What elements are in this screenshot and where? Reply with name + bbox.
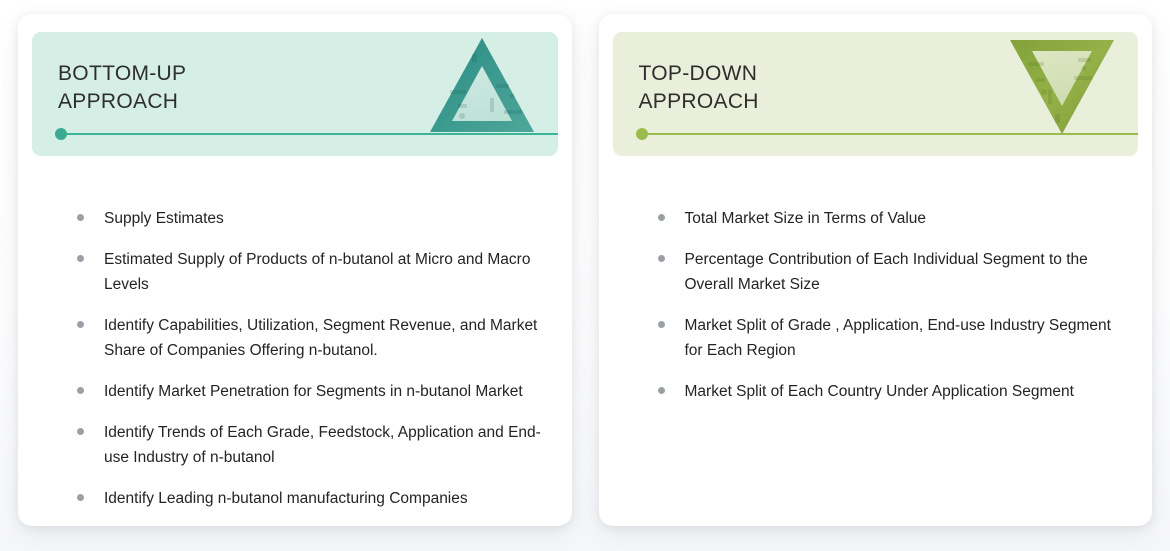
bullet-dot-icon — [658, 214, 665, 221]
list-item-label: Supply Estimates — [104, 206, 224, 231]
bullet-dot-icon — [77, 494, 84, 501]
list-item: Identify Capabilities, Utilization, Segm… — [40, 313, 550, 363]
triangle-down-icon — [1008, 32, 1116, 140]
list-item-label: Market Split of Grade , Application, End… — [685, 313, 1131, 363]
card-header-bottom-up: BOTTOM-UP APPROACH — [32, 32, 558, 156]
list-item-label: Identify Capabilities, Utilization, Segm… — [104, 313, 550, 363]
card-bottom-up: BOTTOM-UP APPROACH — [18, 14, 572, 526]
list-item: Identify Leading n-butanol manufacturing… — [40, 486, 550, 511]
list-item-label: Percentage Contribution of Each Individu… — [685, 247, 1131, 297]
list-item: Identify Market Penetration for Segments… — [40, 379, 550, 404]
bullet-dot-icon — [658, 255, 665, 262]
list-item-label: Total Market Size in Terms of Value — [685, 206, 927, 231]
list-item-label: Market Split of Each Country Under Appli… — [685, 379, 1074, 404]
list-item: Total Market Size in Terms of Value — [621, 206, 1131, 231]
bullet-dot-icon — [77, 214, 84, 221]
bullet-dot-icon — [658, 387, 665, 394]
list-item: Identify Trends of Each Grade, Feedstock… — [40, 420, 550, 470]
list-item: Supply Estimates — [40, 206, 550, 231]
card-title-bottom-up: BOTTOM-UP APPROACH — [58, 60, 186, 116]
card-title-top-down: TOP-DOWN APPROACH — [639, 60, 759, 116]
triangle-up-icon — [428, 32, 536, 140]
bullet-dot-icon — [658, 321, 665, 328]
bullet-dot-icon — [77, 387, 84, 394]
bullet-dot-icon — [77, 321, 84, 328]
card-header-top-down: TOP-DOWN APPROACH — [613, 32, 1139, 156]
list-item-label: Identify Leading n-butanol manufacturing… — [104, 486, 468, 511]
bullet-list-bottom-up: Supply Estimates Estimated Supply of Pro… — [18, 174, 572, 526]
list-item: Market Split of Grade , Application, End… — [621, 313, 1131, 363]
list-item-label: Identify Trends of Each Grade, Feedstock… — [104, 420, 550, 470]
card-top-down: TOP-DOWN APPROACH — [599, 14, 1153, 526]
slide-background: BOTTOM-UP APPROACH — [0, 0, 1170, 551]
list-item: Market Split of Each Country Under Appli… — [621, 379, 1131, 404]
bullet-dot-icon — [77, 255, 84, 262]
list-item: Estimated Supply of Products of n-butano… — [40, 247, 550, 297]
accent-dot-top-down — [636, 128, 648, 140]
approach-cards-container: BOTTOM-UP APPROACH — [18, 14, 1152, 526]
bullet-dot-icon — [77, 428, 84, 435]
list-item-label: Identify Market Penetration for Segments… — [104, 379, 523, 404]
accent-dot-bottom-up — [55, 128, 67, 140]
list-item-label: Estimated Supply of Products of n-butano… — [104, 247, 550, 297]
list-item: Percentage Contribution of Each Individu… — [621, 247, 1131, 297]
bullet-list-top-down: Total Market Size in Terms of Value Perc… — [599, 174, 1153, 420]
